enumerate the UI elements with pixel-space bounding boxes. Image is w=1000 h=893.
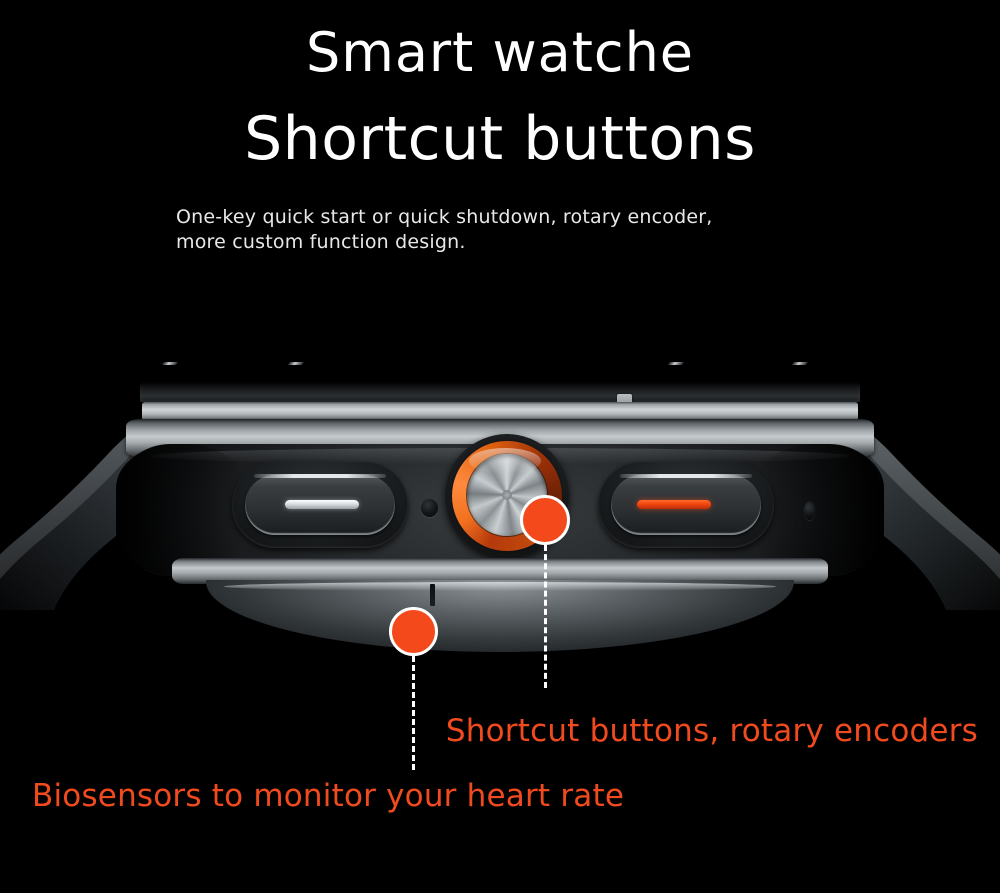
bezel-notch-icon [161, 362, 178, 365]
watch-case [120, 358, 880, 648]
speaker-port-icon [804, 501, 815, 520]
callout-marker-biosensor [389, 607, 438, 656]
microphone-port-icon [421, 499, 438, 517]
caseback-seam [430, 584, 435, 606]
callout-marker-crown [520, 495, 570, 545]
subtitle-line-1: One-key quick start or quick shutdown, r… [176, 205, 876, 230]
right-button-indicator [637, 500, 711, 509]
bezel-notch-icon [667, 362, 684, 365]
caseback [206, 580, 794, 652]
top-bezel [140, 382, 860, 402]
callout-leader-crown [544, 545, 547, 688]
smart-watch-product-image [0, 340, 1000, 670]
subtitle-line-2: more custom function design. [176, 230, 876, 255]
page-title-primary: Smart watche [0, 22, 1000, 84]
left-button-key[interactable] [245, 475, 395, 535]
callout-label-shortcut-buttons: Shortcut buttons, rotary encoders [0, 713, 978, 749]
product-marketing-banner: Smart watche Shortcut buttons One-key qu… [0, 0, 1000, 893]
page-title-secondary: Shortcut buttons [0, 104, 1000, 174]
right-button-key[interactable] [611, 475, 761, 535]
callout-label-biosensors: Biosensors to monitor your heart rate [32, 778, 624, 814]
left-button-indicator [285, 500, 359, 509]
page-subtitle: One-key quick start or quick shutdown, r… [176, 205, 876, 255]
bezel-notch-icon [791, 362, 808, 365]
right-shortcut-button[interactable] [598, 462, 774, 548]
left-shortcut-button[interactable] [232, 462, 408, 548]
bezel-notch-icon [287, 362, 304, 365]
